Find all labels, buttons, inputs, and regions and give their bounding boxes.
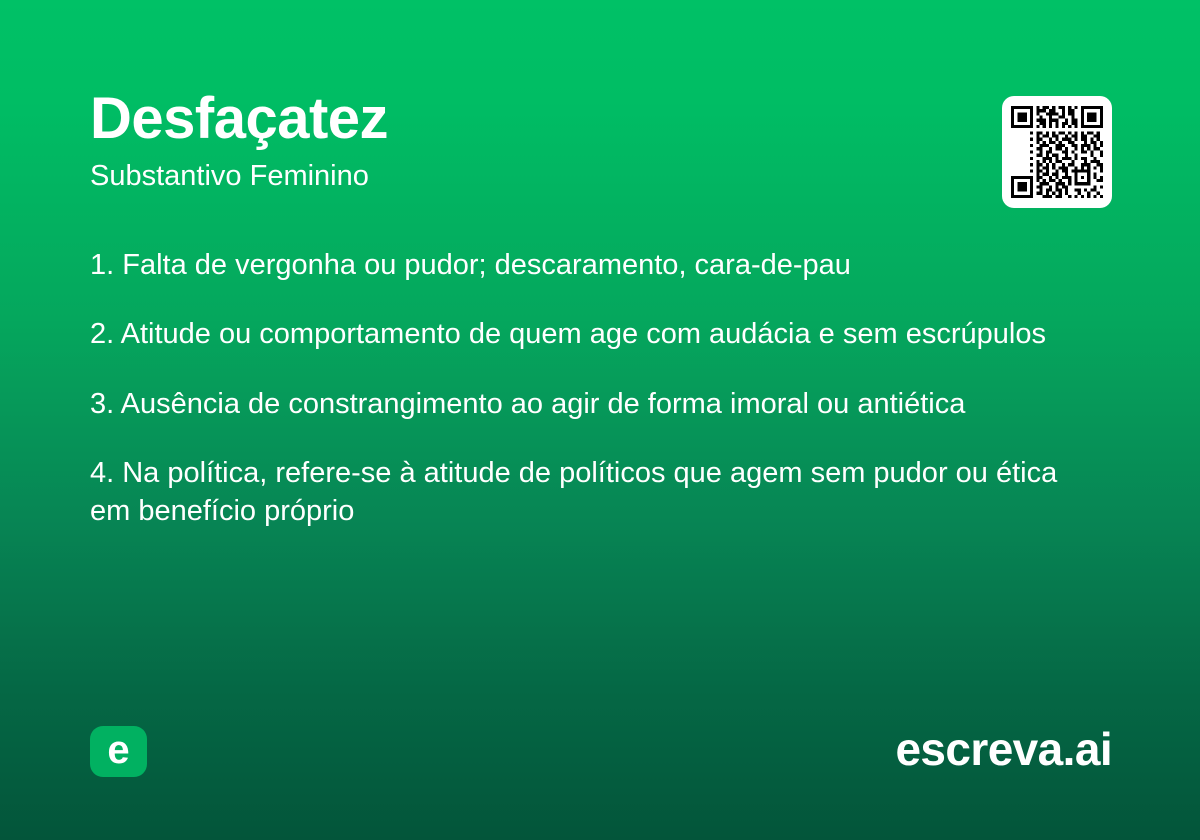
word-title: Desfaçatez: [90, 88, 1110, 151]
qr-code[interactable]: [1002, 96, 1112, 208]
definition-item: 4. Na política, refere-se à atitude de p…: [90, 454, 1075, 531]
word-class-label: Substantivo Feminino: [90, 159, 1110, 194]
definition-item: 2. Atitude ou comportamento de quem age …: [90, 315, 1075, 353]
qr-code-icon: [1011, 105, 1103, 199]
brand-wordmark: escreva.ai: [895, 724, 1112, 775]
definition-item: 1. Falta de vergonha ou pudor; descarame…: [90, 246, 1075, 284]
card-footer: e escreva.ai: [90, 726, 1112, 778]
definition-item: 3. Ausência de constrangimento ao agir d…: [90, 385, 1075, 423]
brand-logo-letter: e: [107, 730, 129, 770]
dictionary-card: Desfaçatez Substantivo Feminino: [0, 0, 1200, 840]
definition-list: 1. Falta de vergonha ou pudor; descarame…: [90, 246, 1075, 530]
brand-logo-badge: e: [90, 726, 147, 777]
card-header: Desfaçatez Substantivo Feminino: [90, 88, 1110, 193]
